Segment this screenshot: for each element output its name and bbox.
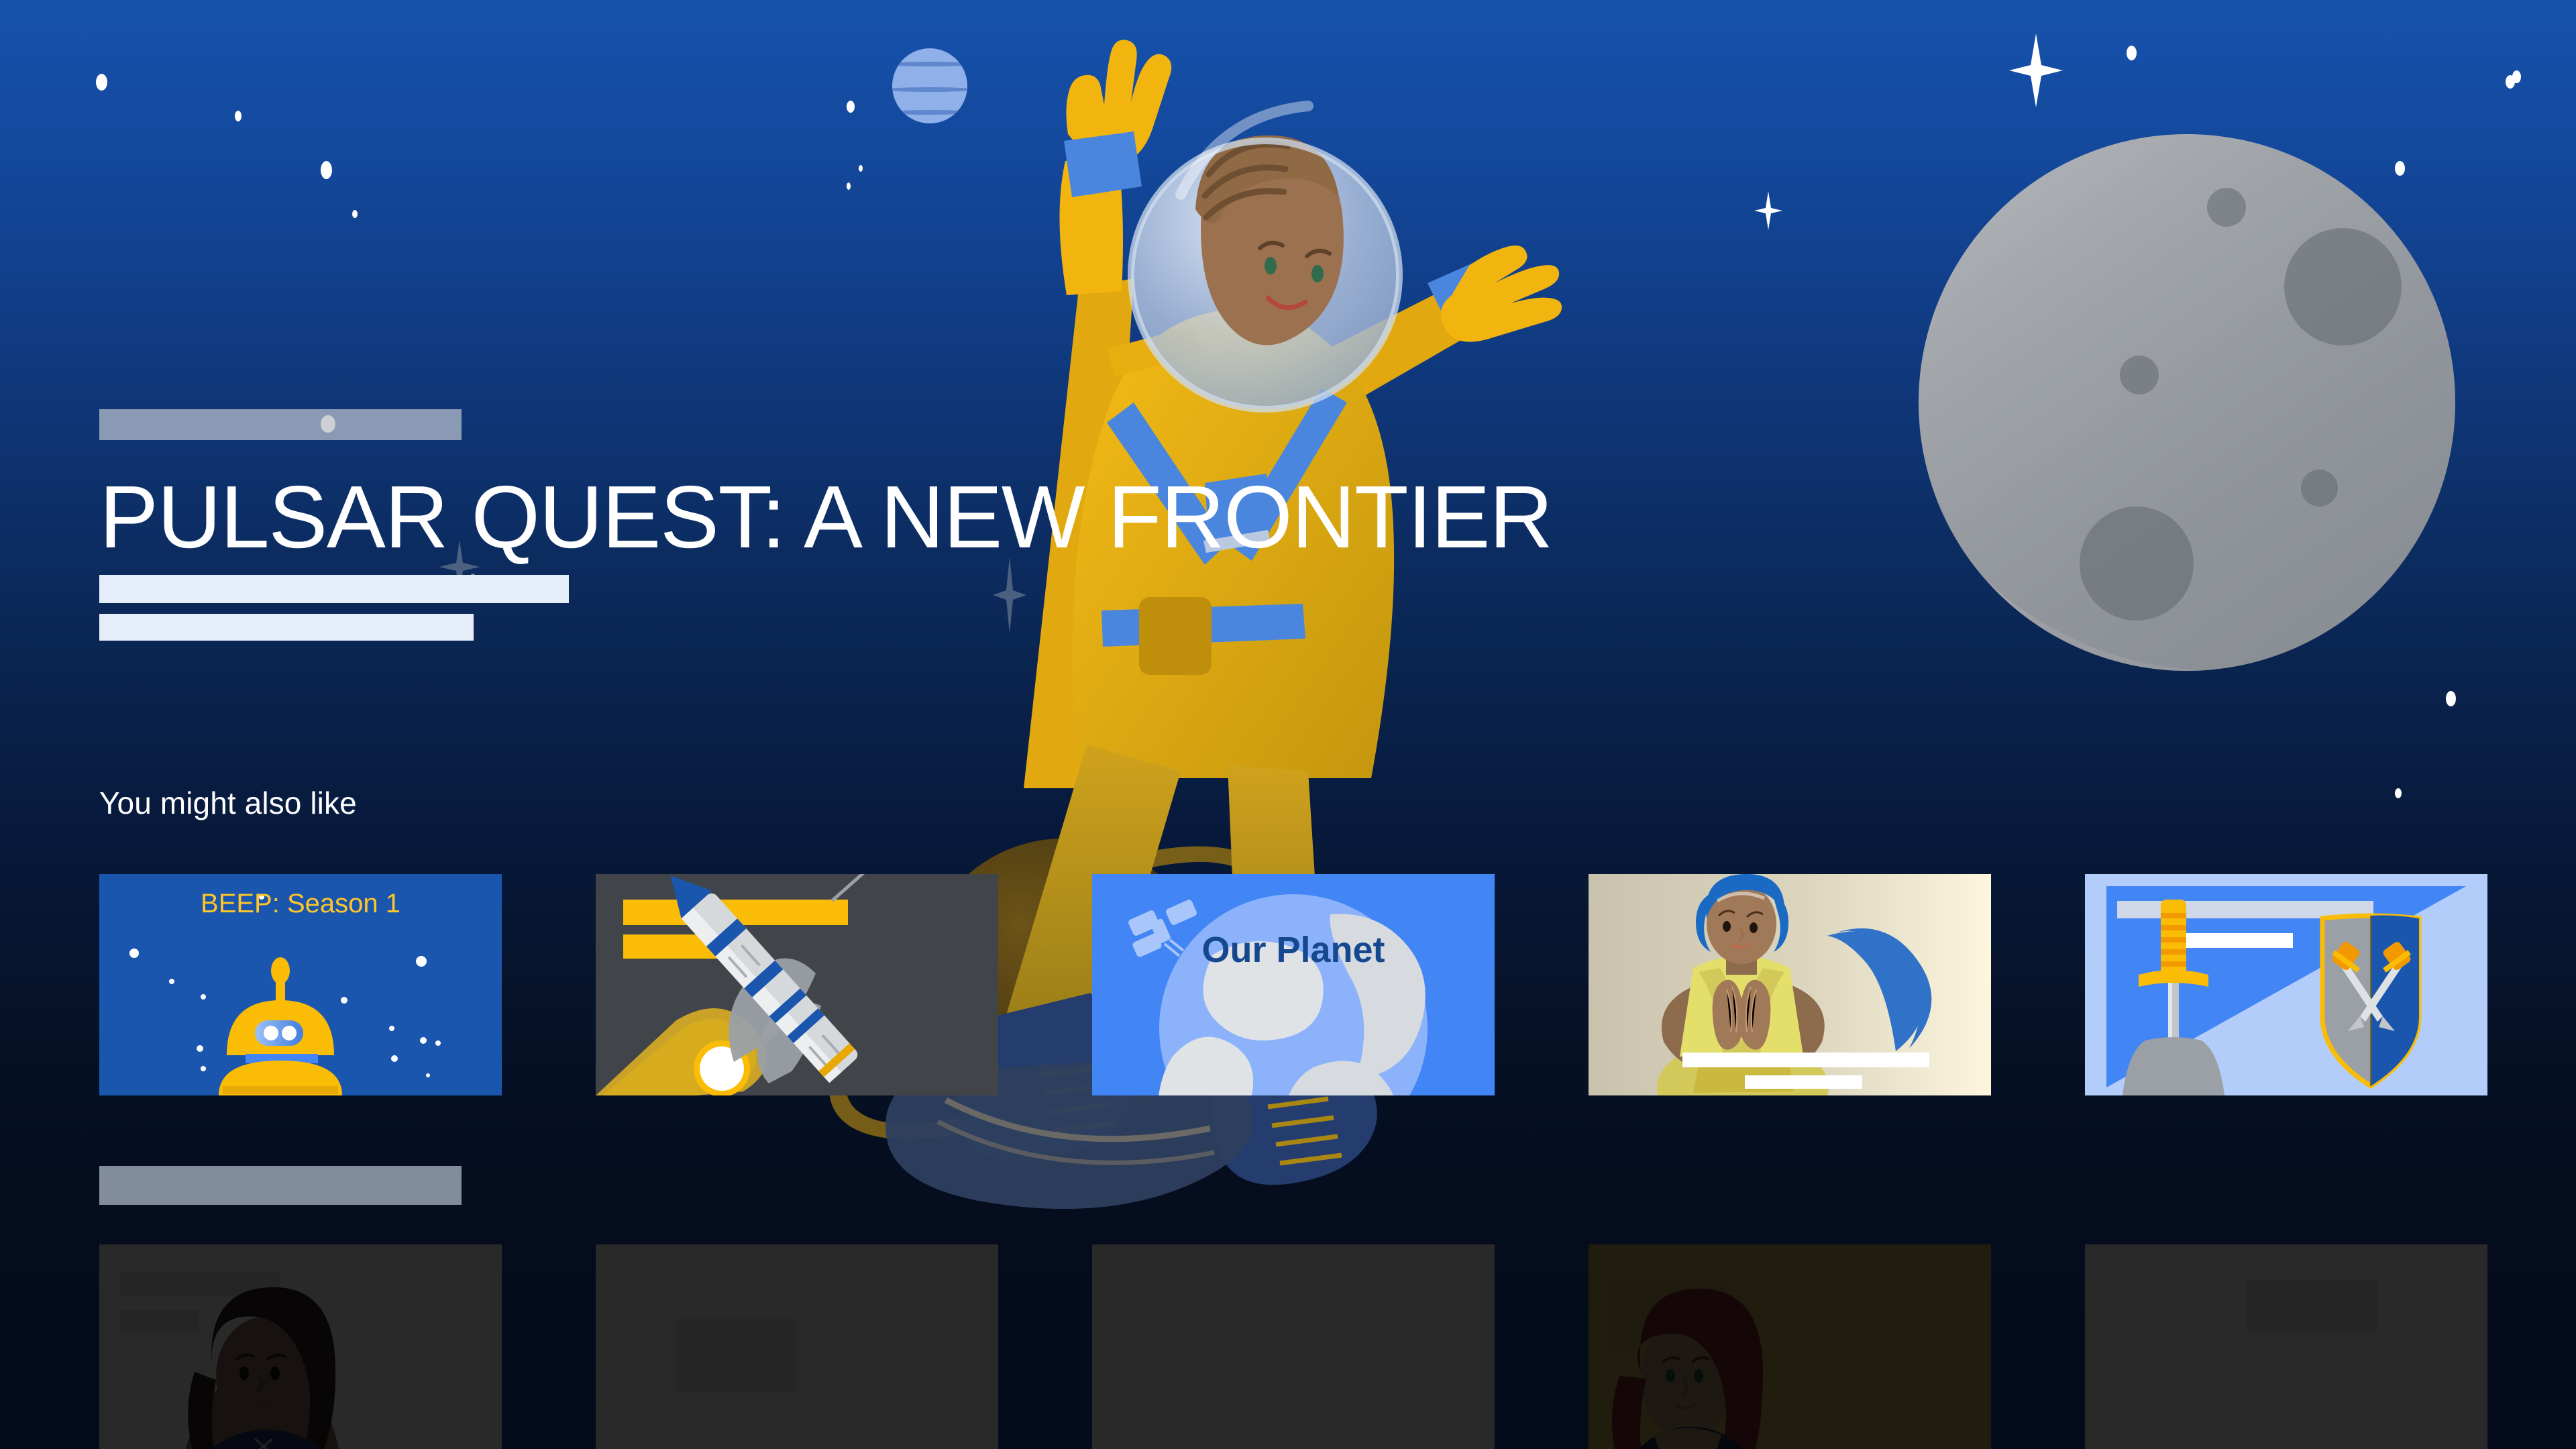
card-our-planet[interactable]: Our Planet xyxy=(1092,874,1495,1095)
recommendations-row-2 xyxy=(99,1244,2487,1449)
sparkle-star-icon xyxy=(1754,191,1782,230)
hero-text-block: PULSAR QUEST: A NEW FRONTIER xyxy=(99,409,2045,641)
page-title: PULSAR QUEST: A NEW FRONTIER xyxy=(99,471,2045,563)
card-meditation[interactable] xyxy=(1589,874,1991,1095)
star xyxy=(847,101,855,113)
star xyxy=(352,210,358,218)
skeleton-bar-top xyxy=(99,409,462,440)
card-sword-and-shield[interactable] xyxy=(2085,874,2487,1095)
hero-stage: PULSAR QUEST: A NEW FRONTIER You might a… xyxy=(0,0,2576,1449)
card-title: Our Planet xyxy=(1092,929,1495,971)
star xyxy=(2127,46,2137,60)
card-beep-season-1[interactable]: BEEP: Season 1 xyxy=(99,874,502,1095)
recommendations-heading: You might also like xyxy=(99,785,357,821)
card-title: BEEP: Season 1 xyxy=(99,889,502,919)
card-row2-2[interactable] xyxy=(596,1244,998,1449)
star xyxy=(2395,788,2402,798)
card-row2-5[interactable] xyxy=(2085,1244,2487,1449)
star xyxy=(2446,691,2456,706)
skeleton-bar-row-2 xyxy=(99,1166,462,1205)
star xyxy=(96,74,107,91)
star xyxy=(321,161,332,179)
skeleton-bar-subtitle-2 xyxy=(99,614,474,641)
card-row2-4[interactable] xyxy=(1589,1244,1991,1449)
sparkle-star-icon xyxy=(2009,34,2063,107)
card-rocket-launch[interactable] xyxy=(596,874,998,1095)
skeleton-dot xyxy=(321,415,335,433)
card-row2-1[interactable] xyxy=(99,1244,502,1449)
skeleton-bar-subtitle-1 xyxy=(99,575,569,603)
recommendations-row-1: BEEP: Season 1 xyxy=(99,874,2487,1095)
star xyxy=(847,182,851,190)
star xyxy=(235,111,241,121)
star xyxy=(859,165,863,172)
card-row2-3[interactable] xyxy=(1092,1244,1495,1449)
star xyxy=(2506,75,2515,89)
